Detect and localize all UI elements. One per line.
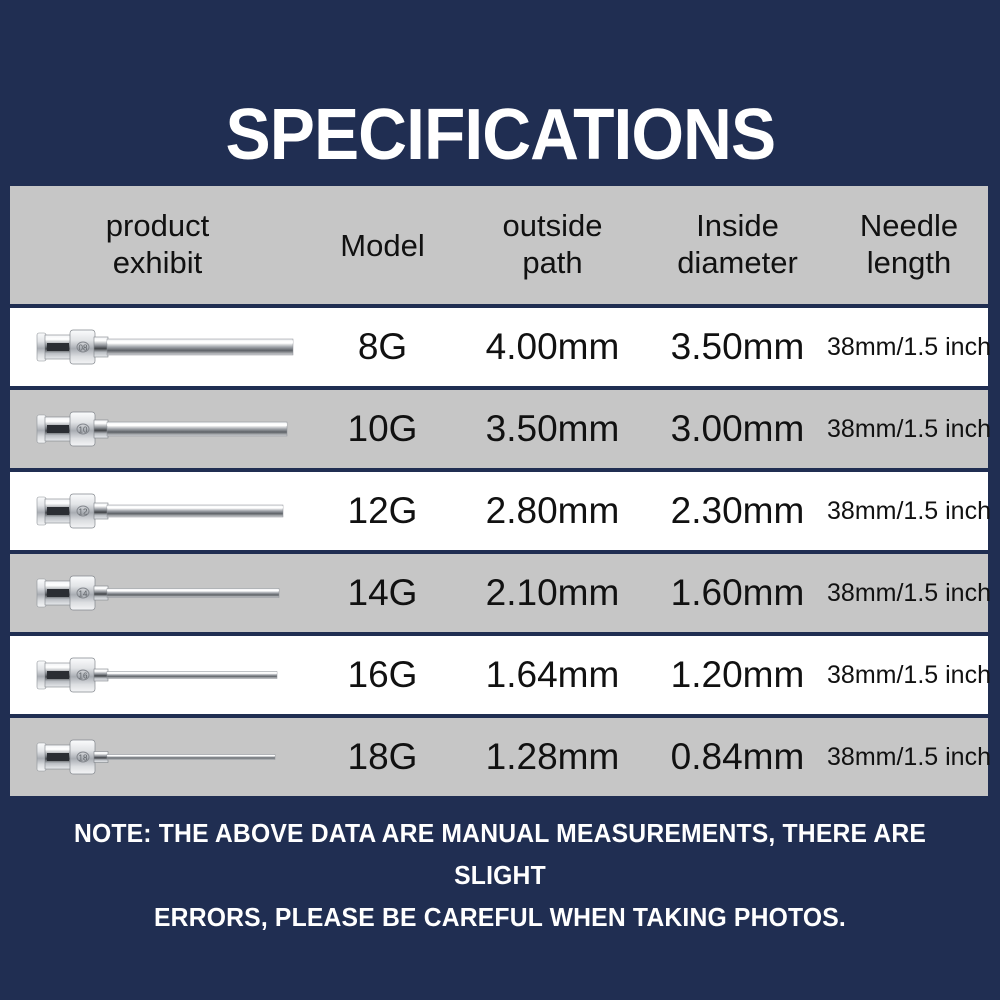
product-exhibit-cell: 10 — [10, 390, 305, 468]
product-exhibit-cell: 16 — [10, 636, 305, 714]
model-cell: 10G — [305, 390, 460, 468]
model-value: 14G — [348, 573, 418, 613]
footer-note-line-2: ERRORS, PLEASE BE CAREFUL WHEN TAKING PH… — [25, 896, 975, 938]
table-row: 12 12G 2.80mm 2.30mm 38mm/1.5 inch — [10, 472, 988, 550]
specifications-table: product exhibit Model outside path Insid… — [10, 186, 988, 800]
needle-length-cell: 38mm/1.5 inch — [830, 554, 988, 632]
inside-diameter-value: 3.50mm — [671, 327, 805, 367]
model-cell: 18G — [305, 718, 460, 796]
product-exhibit-cell: 08 — [10, 308, 305, 386]
inside-diameter-cell: 0.84mm — [645, 718, 830, 796]
model-cell: 16G — [305, 636, 460, 714]
column-header-outside-path-label: outside path — [503, 207, 603, 283]
needle-length-value: 38mm/1.5 inch — [827, 333, 991, 361]
table-row: 10 10G 3.50mm 3.00mm 38mm/1.5 inch — [10, 390, 988, 468]
blunt-dispensing-needle-icon: 16 — [33, 649, 301, 701]
table-row: 14 14G 2.10mm 1.60mm 38mm/1.5 inch — [10, 554, 988, 632]
page-title: SPECIFICATIONS — [225, 96, 775, 174]
outside-path-value: 4.00mm — [486, 327, 620, 367]
inside-diameter-cell: 1.60mm — [645, 554, 830, 632]
hub-gauge-mark: 16 — [78, 672, 87, 681]
column-header-needle-length: Needle length — [830, 186, 988, 304]
outside-path-cell: 3.50mm — [460, 390, 645, 468]
model-value: 8G — [358, 327, 407, 367]
model-cell: 12G — [305, 472, 460, 550]
needle-length-cell: 38mm/1.5 inch — [830, 472, 988, 550]
blunt-dispensing-needle-icon: 18 — [33, 731, 301, 783]
outside-path-cell: 1.64mm — [460, 636, 645, 714]
outside-path-value: 3.50mm — [486, 409, 620, 449]
outside-path-value: 1.28mm — [486, 737, 620, 777]
column-header-model-label: Model — [340, 227, 424, 264]
column-header-outside-path: outside path — [460, 186, 645, 304]
table-row: 08 8G 4.00mm 3.50mm 38mm/1.5 inch — [10, 308, 988, 386]
hub-gauge-mark: 18 — [78, 754, 87, 763]
inside-diameter-value: 3.00mm — [671, 409, 805, 449]
model-value: 12G — [348, 491, 418, 531]
inside-diameter-cell: 2.30mm — [645, 472, 830, 550]
inside-diameter-cell: 3.50mm — [645, 308, 830, 386]
product-exhibit-cell: 12 — [10, 472, 305, 550]
table-header-row: product exhibit Model outside path Insid… — [10, 186, 988, 304]
model-value: 10G — [348, 409, 418, 449]
product-exhibit-cell: 14 — [10, 554, 305, 632]
specifications-page: SPECIFICATIONS product exhibit Model out… — [0, 0, 1000, 1000]
page-title-container: SPECIFICATIONS — [0, 96, 1000, 174]
needle-length-value: 38mm/1.5 inch — [827, 743, 991, 771]
footer-note: NOTE: THE ABOVE DATA ARE MANUAL MEASUREM… — [25, 812, 975, 938]
model-cell: 14G — [305, 554, 460, 632]
outside-path-value: 2.80mm — [486, 491, 620, 531]
blunt-dispensing-needle-icon: 08 — [33, 321, 301, 373]
blunt-dispensing-needle-icon: 14 — [33, 567, 301, 619]
column-header-product-exhibit: product exhibit — [10, 186, 305, 304]
inside-diameter-value: 2.30mm — [671, 491, 805, 531]
hub-gauge-mark: 12 — [78, 508, 87, 517]
model-cell: 8G — [305, 308, 460, 386]
column-header-inside-diameter-label: Inside diameter — [677, 207, 798, 283]
blunt-dispensing-needle-icon: 12 — [33, 485, 301, 537]
blunt-dispensing-needle-icon: 10 — [33, 403, 301, 455]
column-header-inside-diameter: Inside diameter — [645, 186, 830, 304]
model-value: 18G — [348, 737, 418, 777]
product-exhibit-cell: 18 — [10, 718, 305, 796]
needle-length-cell: 38mm/1.5 inch — [830, 636, 988, 714]
inside-diameter-cell: 1.20mm — [645, 636, 830, 714]
model-value: 16G — [348, 655, 418, 695]
needle-length-cell: 38mm/1.5 inch — [830, 718, 988, 796]
column-header-model: Model — [305, 186, 460, 304]
inside-diameter-value: 1.20mm — [671, 655, 805, 695]
needle-length-value: 38mm/1.5 inch — [827, 579, 991, 607]
hub-gauge-mark: 14 — [78, 590, 87, 599]
needle-length-value: 38mm/1.5 inch — [827, 415, 991, 443]
table-row: 16 16G 1.64mm 1.20mm 38mm/1.5 inch — [10, 636, 988, 714]
needle-length-value: 38mm/1.5 inch — [827, 661, 991, 689]
hub-gauge-mark: 10 — [78, 426, 87, 435]
needle-length-cell: 38mm/1.5 inch — [830, 390, 988, 468]
inside-diameter-value: 0.84mm — [671, 737, 805, 777]
outside-path-value: 1.64mm — [486, 655, 620, 695]
outside-path-cell: 2.80mm — [460, 472, 645, 550]
table-row: 18 18G 1.28mm 0.84mm 38mm/1.5 inch — [10, 718, 988, 796]
needle-length-cell: 38mm/1.5 inch — [830, 308, 988, 386]
footer-note-line-1: NOTE: THE ABOVE DATA ARE MANUAL MEASUREM… — [74, 818, 926, 890]
outside-path-cell: 2.10mm — [460, 554, 645, 632]
column-header-needle-length-label: Needle length — [860, 207, 958, 283]
outside-path-cell: 4.00mm — [460, 308, 645, 386]
needle-length-value: 38mm/1.5 inch — [827, 497, 991, 525]
inside-diameter-cell: 3.00mm — [645, 390, 830, 468]
column-header-product-exhibit-label: product exhibit — [106, 207, 209, 283]
outside-path-cell: 1.28mm — [460, 718, 645, 796]
inside-diameter-value: 1.60mm — [671, 573, 805, 613]
hub-gauge-mark: 08 — [78, 344, 87, 353]
outside-path-value: 2.10mm — [486, 573, 620, 613]
